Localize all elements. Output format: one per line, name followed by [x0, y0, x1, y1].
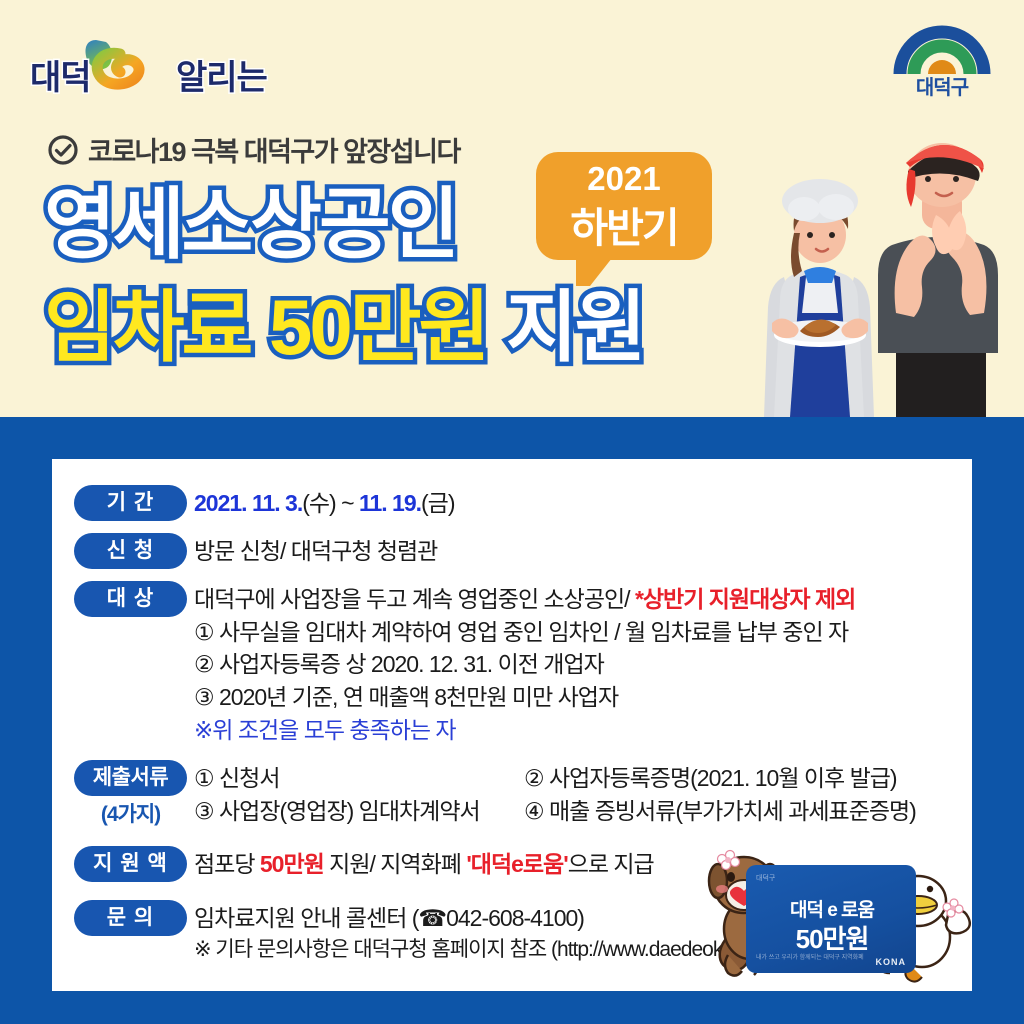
- info-panel: 기 간 2021. 11. 3.(수) ~ 11. 19.(금) 신 청 방문 …: [52, 459, 972, 991]
- target-line-3: ② 사업자등록증 상 2020. 12. 31. 이전 개업자: [194, 648, 972, 681]
- support-post: 으로 지급: [568, 851, 654, 877]
- card-issuer: KONA: [876, 957, 907, 967]
- period-end-day: (금): [421, 490, 454, 516]
- headline-text-2a: 임차료 50만원: [44, 283, 487, 371]
- pill-wrap-support: 지 원 액: [74, 846, 194, 882]
- label-apply: 신 청: [74, 533, 187, 569]
- pill-wrap-apply: 신 청: [74, 533, 194, 569]
- headline-line-2: 임차료 50만원 지원: [44, 288, 643, 366]
- body-period: 2021. 11. 3.(수) ~ 11. 19.(금): [194, 485, 972, 520]
- document-item-2: ② 사업자등록증명(2021. 10월 이후 발급): [524, 762, 972, 795]
- brand-word-daedeok: 대덕: [30, 50, 91, 99]
- half-year-bubble: 2021 하반기: [536, 152, 712, 260]
- label-target: 대 상: [74, 581, 187, 617]
- info-row-apply: 신 청 방문 신청/ 대덕구청 청렴관: [52, 533, 972, 569]
- hero-illustration: [746, 127, 1014, 417]
- headline-text-1: 영세소상공인: [44, 180, 457, 268]
- period-start: 2021. 11. 3.: [194, 490, 302, 516]
- document-item-3: ③ 사업장(영업장) 임대차계약서: [194, 795, 524, 828]
- baker-woman-figure: [764, 179, 874, 417]
- apply-value: 방문 신청/ 대덕구청 청렴관: [194, 535, 972, 568]
- card-amount: 50만원: [760, 919, 904, 956]
- body-target: 대덕구에 사업장을 두고 계속 영업중인 소상공인/ *상반기 지원대상자 제외…: [194, 581, 972, 746]
- documents-row-1: ① 신청서 ② 사업자등록증명(2021. 10월 이후 발급): [194, 762, 972, 795]
- document-item-1: ① 신청서: [194, 762, 524, 795]
- target-line-2: ① 사무실을 임대차 계약하여 영업 중인 임차인 / 월 임차료를 납부 중인…: [194, 616, 972, 649]
- gu-logo-label: 대덕구: [886, 71, 998, 100]
- info-row-documents: 제출서류 (4가지) ① 신청서 ② 사업자등록증명(2021. 10월 이후 …: [52, 760, 972, 828]
- period-end: 11. 19.: [359, 490, 421, 516]
- label-documents-count: (4가지): [74, 798, 187, 828]
- support-pre: 점포당: [194, 851, 260, 877]
- document-item-4: ④ 매출 증빙서류(부가가치세 과세표준증명): [524, 795, 972, 828]
- covid-tagline: 코로나19 극복 대덕구가 앞장섭니다: [48, 130, 460, 169]
- body-apply: 방문 신청/ 대덕구청 청렴관: [194, 533, 972, 568]
- poster-root: 대덕 알리는 대덕구 코로나19 극복 대덕구가 앞장섭니다 영세소상공인 임: [0, 0, 1024, 1024]
- documents-row-2: ③ 사업장(영업장) 임대차계약서 ④ 매출 증빙서류(부가가치세 과세표준증명…: [194, 795, 972, 828]
- brand-logo: 대덕 알리는: [28, 24, 308, 94]
- label-support-amount: 지 원 액: [74, 846, 187, 882]
- pill-wrap-target: 대 상: [74, 581, 194, 617]
- support-currency: '대덕e로움': [466, 851, 567, 877]
- target-line-4: ③ 2020년 기준, 연 매출액 8천만원 미만 사업자: [194, 681, 972, 714]
- brand-word-allineun: 알리는: [176, 50, 267, 99]
- headline-line-1: 영세소상공인: [44, 185, 457, 263]
- card-tiny-top: 대덕구: [756, 873, 775, 883]
- target-line-1-text: 대덕구에 사업장을 두고 계속 영업중인 소상공인/: [194, 586, 635, 612]
- pill-wrap-contact: 문 의: [74, 900, 194, 936]
- target-line-note: ※위 조건을 모두 충족하는 자: [194, 714, 972, 747]
- man-figure: [878, 143, 998, 417]
- covid-tagline-text: 코로나19 극복 대덕구가 앞장섭니다: [88, 130, 460, 169]
- bubble-year: 2021: [536, 160, 712, 198]
- gu-logo: 대덕구: [886, 18, 998, 100]
- period-value: 2021. 11. 3.(수) ~ 11. 19.(금): [194, 487, 972, 520]
- period-start-day: (수) ~: [302, 490, 359, 516]
- support-amount: 50만원: [260, 851, 324, 877]
- daedeok-e-roum-card: 대덕구 내가 쓰고 우리가 함께되는 대덕구 지역화폐 대덕 e 로움 50만원…: [746, 865, 916, 973]
- headline-text-2b: 지원: [506, 283, 644, 371]
- card-brand-name: 대덕 e 로움: [760, 895, 904, 922]
- pill-wrap-documents: 제출서류 (4가지): [74, 760, 194, 828]
- info-row-target: 대 상 대덕구에 사업장을 두고 계속 영업중인 소상공인/ *상반기 지원대상…: [52, 581, 972, 746]
- support-mid: 지원/ 지역화폐: [324, 851, 467, 877]
- label-period: 기 간: [74, 485, 187, 521]
- daedeok-gu-arch-icon: [886, 18, 998, 78]
- body-documents: ① 신청서 ② 사업자등록증명(2021. 10월 이후 발급) ③ 사업장(영…: [194, 760, 972, 827]
- pill-wrap-period: 기 간: [74, 485, 194, 521]
- label-contact: 문 의: [74, 900, 187, 936]
- target-line-1-exclusion: *상반기 지원대상자 제외: [635, 586, 855, 612]
- info-row-period: 기 간 2021. 11. 3.(수) ~ 11. 19.(금): [52, 485, 972, 521]
- check-circle-icon: [48, 135, 78, 165]
- voucher-mascot-group: 대덕구 내가 쓰고 우리가 함께되는 대덕구 지역화폐 대덕 e 로움 50만원…: [704, 841, 972, 991]
- bubble-half: 하반기: [536, 194, 712, 254]
- hero-section: 대덕 알리는 대덕구 코로나19 극복 대덕구가 앞장섭니다 영세소상공인 임: [0, 0, 1024, 417]
- target-line-1: 대덕구에 사업장을 두고 계속 영업중인 소상공인/ *상반기 지원대상자 제외: [194, 583, 972, 616]
- label-documents: 제출서류: [74, 760, 187, 796]
